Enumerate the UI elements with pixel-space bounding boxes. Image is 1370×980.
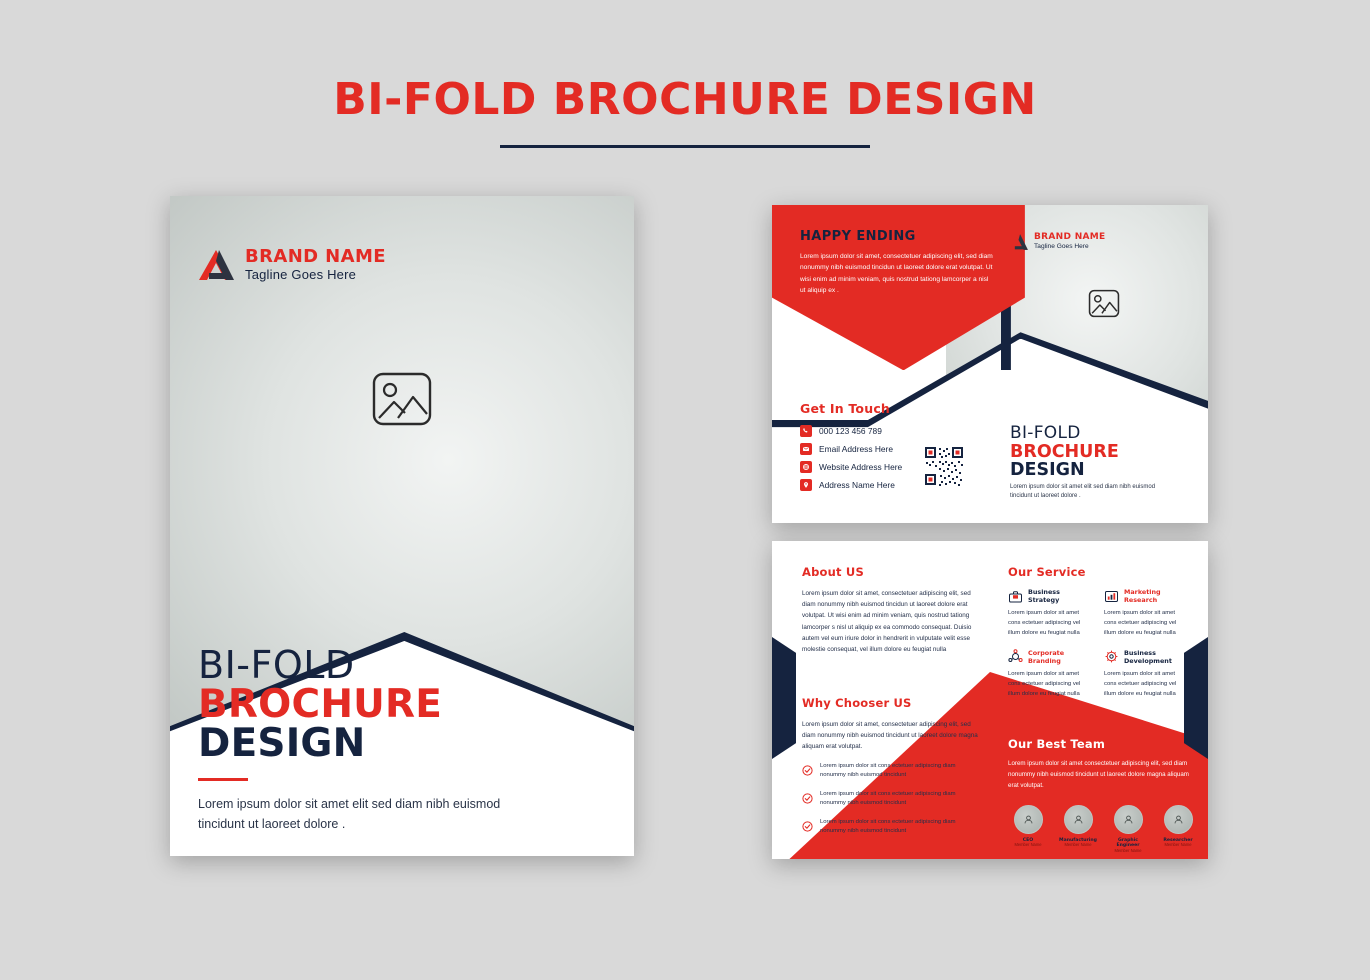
person-avatar-icon [1014,805,1043,834]
check-circle-icon [802,763,813,774]
contact-phone-text: 000 123 456 789 [819,426,882,436]
back-cover-brand-lockup: BRAND NAME Tagline Goes Here [1008,233,1106,251]
service-name: Business Strategy [1028,588,1088,604]
brand-tagline: Tagline Goes Here [245,267,386,283]
get-in-touch-title: Get In Touch [800,401,902,416]
about-body: Lorem ipsum dolor sit amet, consectetuer… [802,588,978,655]
service-item: Business Strategy Lorem ipsum dolor sit … [1008,588,1088,639]
service-item: Marketing Research Lorem ipsum dolor sit… [1104,588,1184,639]
team-member-name: Member Name [1158,843,1198,848]
gear-icon [1104,649,1119,664]
about-block: About US Lorem ipsum dolor sit amet, con… [802,565,978,655]
triangle-a-logo-icon [196,248,236,282]
why-bullet-text: Lorem ipsum dolor sit cons ectetuer adip… [820,762,982,781]
service-item: Corporate Branding Lorem ipsum dolor sit… [1008,649,1088,700]
contact-address-text: Address Name Here [819,480,895,490]
briefcase-icon [1008,589,1023,604]
check-circle-icon [802,819,813,830]
team-member-role: Graphic Engineer [1108,838,1148,849]
service-name: Marketing Research [1124,588,1184,604]
team-member: Researcher Member Name [1158,805,1198,854]
service-text: Lorem ipsum dolor sit amet cons ectetuer… [1104,670,1184,700]
person-avatar-icon [1164,805,1193,834]
check-circle-icon [802,791,813,802]
why-choose-block: Why Chooser US Lorem ipsum dolor sit ame… [802,696,982,837]
team-block: Our Best Team Lorem ipsum dolor sit amet… [1008,737,1198,853]
contact-row-address[interactable]: Address Name Here [800,479,902,491]
happy-ending-title: HAPPY ENDING [800,229,916,244]
service-name: Corporate Branding [1028,649,1088,665]
about-title: About US [802,565,978,579]
service-text: Lorem ipsum dolor sit amet cons ectetuer… [1008,670,1088,700]
contact-row-phone[interactable]: 000 123 456 789 [800,425,902,437]
page-title: BI-FOLD BROCHURE DESIGN [0,74,1370,125]
service-name: Business Development [1124,649,1184,665]
globe-icon [800,461,812,473]
contact-website-text: Website Address Here [819,462,902,472]
back-cover-subtext: Lorem ipsum dolor sit amet elit sed diam… [1010,483,1170,501]
team-body: Lorem ipsum dolor sit amet consectetuer … [1008,759,1198,792]
team-member-name: Member Name [1058,843,1098,848]
cover-headline-3: DESIGN [198,724,528,764]
triangle-a-logo-icon [1008,233,1029,251]
service-block: Our Service Business Strategy Lo [1008,565,1184,700]
qr-code-icon[interactable] [923,445,965,487]
cover-copy-block: BI-FOLD BROCHURE DESIGN Lorem ipsum dolo… [198,646,528,834]
network-icon [1008,649,1023,664]
contact-row-email[interactable]: Email Address Here [800,443,902,455]
title-underline [500,145,870,148]
image-placeholder-icon [371,371,433,427]
team-member: Manufacturing Member Name [1058,805,1098,854]
image-placeholder-icon [1088,289,1120,318]
back-cover-headline-2: BROCHURE [1010,443,1119,461]
why-bullet-text: Lorem ipsum dolor sit cons ectetuer adip… [820,790,982,809]
get-in-touch-block: Get In Touch 000 123 456 789 Email Addre… [800,401,902,497]
team-member-name: Member Name [1008,843,1048,848]
cover-headline-2: BROCHURE [198,685,528,725]
person-avatar-icon [1114,805,1143,834]
brand-tagline: Tagline Goes Here [1034,243,1106,251]
brand-name: BRAND NAME [245,248,386,267]
service-text: Lorem ipsum dolor sit amet cons ectetuer… [1104,609,1184,639]
why-bullet: Lorem ipsum dolor sit cons ectetuer adip… [802,790,982,809]
chart-board-icon [1104,589,1119,604]
cover-divider [198,778,248,781]
service-title: Our Service [1008,565,1184,579]
person-avatar-icon [1064,805,1093,834]
team-member: Graphic Engineer Member Name [1108,805,1148,854]
back-cover-headline-3: DESIGN [1010,461,1119,479]
back-cover-title-block: BI-FOLD BROCHURE DESIGN [1010,425,1119,479]
email-icon [800,443,812,455]
cover-brand-lockup: BRAND NAME Tagline Goes Here [196,248,386,282]
why-choose-body: Lorem ipsum dolor sit amet, consectetuer… [802,719,982,753]
service-item: Business Development Lorem ipsum dolor s… [1104,649,1184,700]
happy-ending-body: Lorem ipsum dolor sit amet, consectetuer… [800,251,993,296]
cover-headline-1: BI-FOLD [198,646,528,685]
contact-row-website[interactable]: Website Address Here [800,461,902,473]
why-bullet: Lorem ipsum dolor sit cons ectetuer adip… [802,762,982,781]
location-pin-icon [800,479,812,491]
contact-email-text: Email Address Here [819,444,893,454]
team-title: Our Best Team [1008,737,1198,751]
outer-spread-page: HAPPY ENDING Lorem ipsum dolor sit amet,… [772,205,1208,523]
brand-name: BRAND NAME [1034,233,1106,242]
why-choose-title: Why Chooser US [802,696,982,710]
back-cover-headline-1: BI-FOLD [1010,425,1119,443]
phone-icon [800,425,812,437]
team-member: CEO Member Name [1008,805,1048,854]
why-bullet-text: Lorem ipsum dolor sit cons ectetuer adip… [820,818,982,837]
why-bullet: Lorem ipsum dolor sit cons ectetuer adip… [802,818,982,837]
cover-subtext: Lorem ipsum dolor sit amet elit sed diam… [198,795,528,834]
team-member-name: Member Name [1108,849,1148,854]
inner-spread-page: About US Lorem ipsum dolor sit amet, con… [772,541,1208,859]
mockup-canvas: BI-FOLD BROCHURE DESIGN [0,0,1370,980]
inner-spread-left-notch [772,637,796,759]
service-text: Lorem ipsum dolor sit amet cons ectetuer… [1008,609,1088,639]
front-cover-page: BRAND NAME Tagline Goes Here BI-FOLD BRO… [170,196,634,856]
